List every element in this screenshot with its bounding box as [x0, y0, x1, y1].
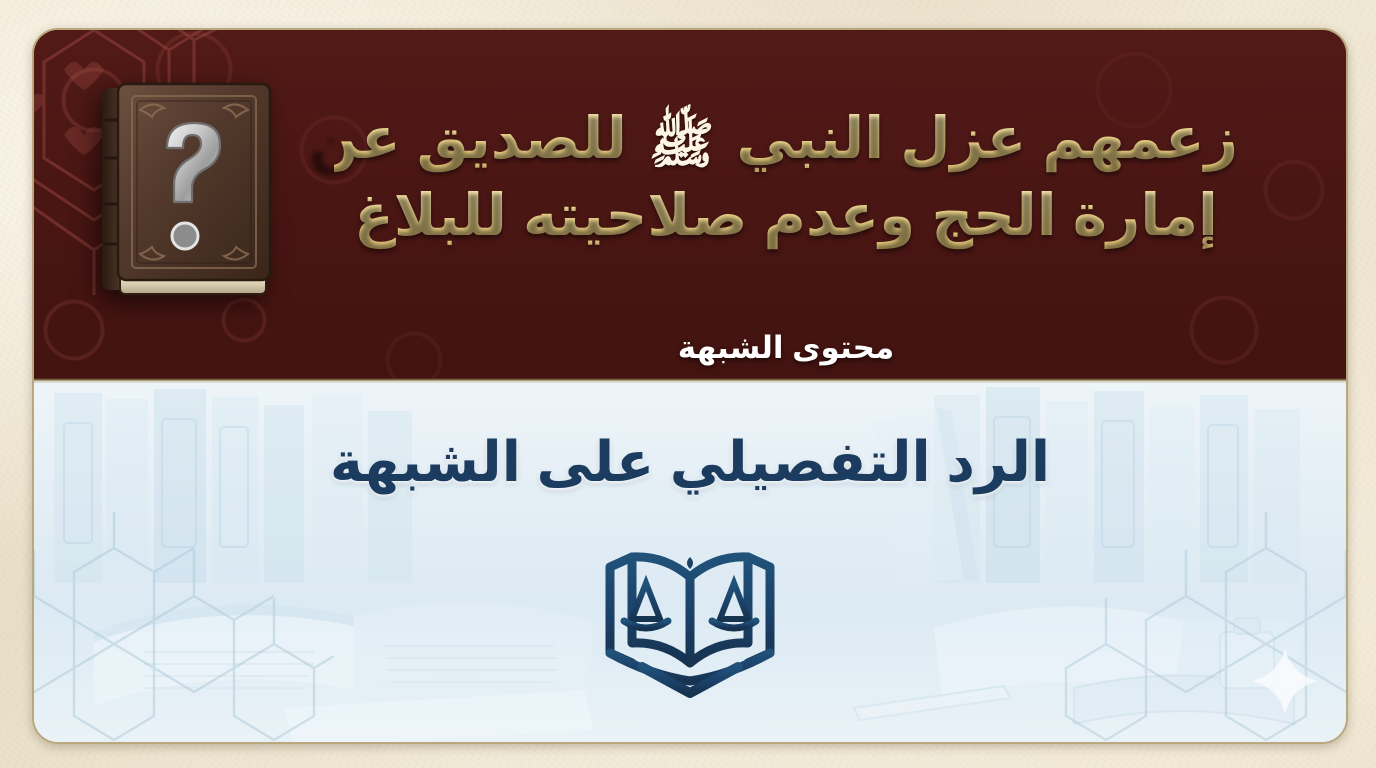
header-title-block: زعمهم عزل النبي ﷺ للصديق عن إمارة الحج و… [334, 102, 1238, 252]
header-content: زعمهم عزل النبي ﷺ للصديق عن إمارة الحج و… [34, 30, 1346, 378]
header-title-line-1: زعمهم عزل النبي ﷺ للصديق عن [334, 102, 1238, 175]
header-section: زعمهم عزل النبي ﷺ للصديق عن إمارة الحج و… [34, 30, 1346, 378]
four-point-sparkle-icon [1250, 646, 1320, 716]
header-title-line-2: إمارة الحج وعدم صلاحيته للبلاغ [334, 179, 1238, 252]
geometric-lattice-right [1046, 512, 1346, 742]
open-book-scales-emblem [590, 535, 790, 705]
header-subtitle: محتوى الشبهة [334, 330, 1238, 366]
answer-heading: الرد التفصيلي على الشبهة [34, 429, 1346, 495]
pbuh-calligraphy-icon: ﷺ [649, 117, 714, 171]
question-book-icon [92, 76, 280, 308]
title-part-after: للصديق عن [309, 106, 627, 171]
answer-section: الرد التفصيلي على الشبهة [34, 383, 1346, 742]
geometric-lattice-left [34, 512, 334, 742]
slide-page: زعمهم عزل النبي ﷺ للصديق عن إمارة الحج و… [0, 0, 1376, 768]
title-part-before: زعمهم عزل النبي [736, 106, 1238, 171]
content-card: زعمهم عزل النبي ﷺ للصديق عن إمارة الحج و… [32, 28, 1348, 744]
